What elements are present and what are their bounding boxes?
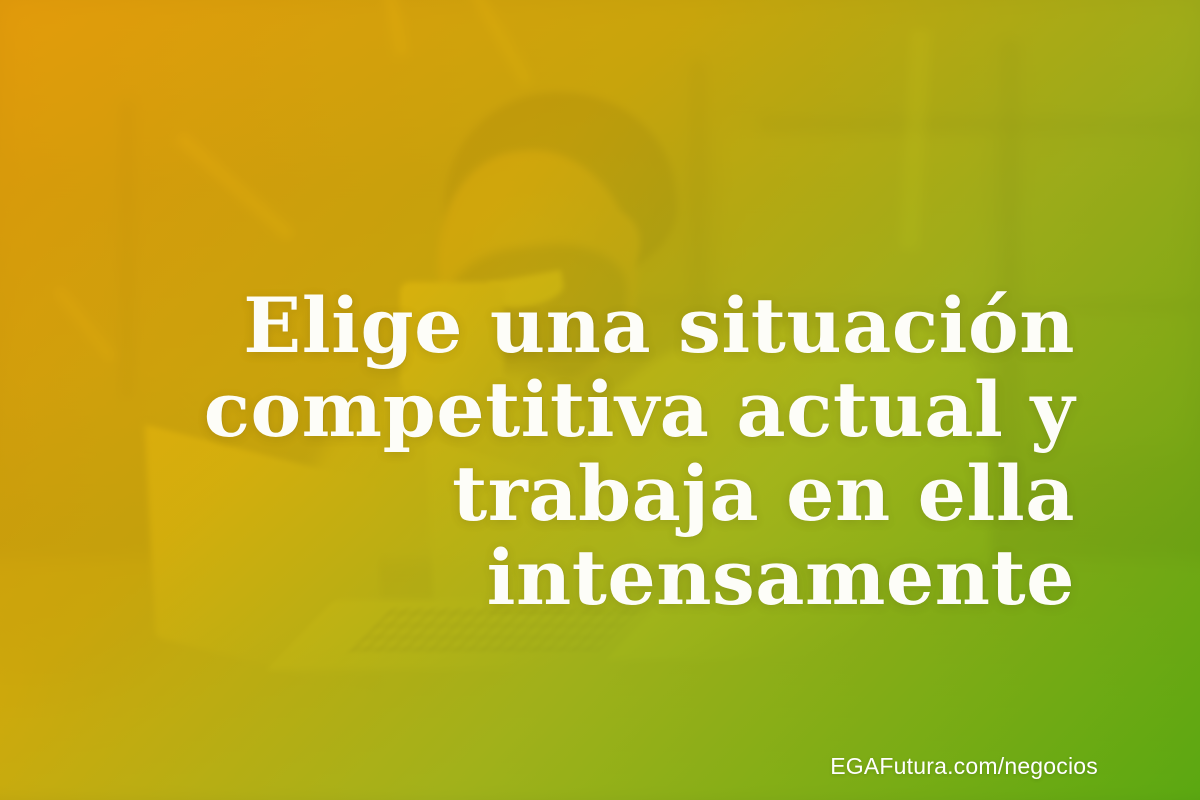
headline-line-2: competitiva actual y [80,368,1075,452]
page-title: Elige una situación competitiva actual y… [80,284,1075,620]
social-quote-banner: Elige una situación competitiva actual y… [0,0,1200,800]
headline-line-1: Elige una situación [80,284,1075,368]
headline-line-4: intensamente [80,536,1075,620]
headline-line-3: trabaja en ella [80,452,1075,536]
footer-url[interactable]: EGAFutura.com/negocios [830,753,1098,780]
